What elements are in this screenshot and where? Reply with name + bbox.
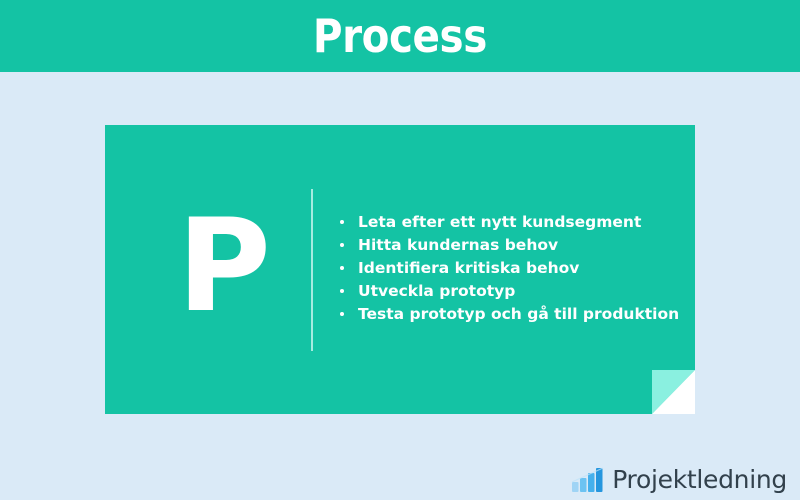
card-letter-p: P: [177, 203, 271, 331]
list-item-label: Testa prototyp och gå till produktion: [358, 305, 679, 323]
vertical-divider: [311, 189, 313, 351]
process-step-list: Leta efter ett nytt kundsegment Hitta ku…: [337, 211, 685, 326]
brand-logo: Projektledning: [572, 467, 787, 492]
list-item-label: Utveckla prototyp: [358, 282, 515, 300]
bullet-icon: [340, 243, 344, 247]
list-item: Hitta kundernas behov: [337, 234, 685, 257]
list-item: Identifiera kritiska behov: [337, 257, 685, 280]
list-item-label: Leta efter ett nytt kundsegment: [358, 213, 641, 231]
brand-name: Projektledning: [612, 467, 787, 492]
bullet-icon: [340, 289, 344, 293]
bullet-icon: [340, 220, 344, 224]
page-title: Process: [313, 13, 487, 59]
header-bar: Process: [0, 0, 800, 72]
list-item: Testa prototyp och gå till produktion: [337, 303, 685, 326]
process-card: P Leta efter ett nytt kundsegment Hitta …: [105, 125, 695, 414]
list-item-label: Hitta kundernas behov: [358, 236, 558, 254]
bullet-icon: [340, 312, 344, 316]
bar-chart-icon: [572, 467, 606, 492]
list-item: Leta efter ett nytt kundsegment: [337, 211, 685, 234]
corner-decoration: [652, 370, 695, 414]
list-item-label: Identifiera kritiska behov: [358, 259, 579, 277]
bullet-icon: [340, 266, 344, 270]
list-item: Utveckla prototyp: [337, 280, 685, 303]
